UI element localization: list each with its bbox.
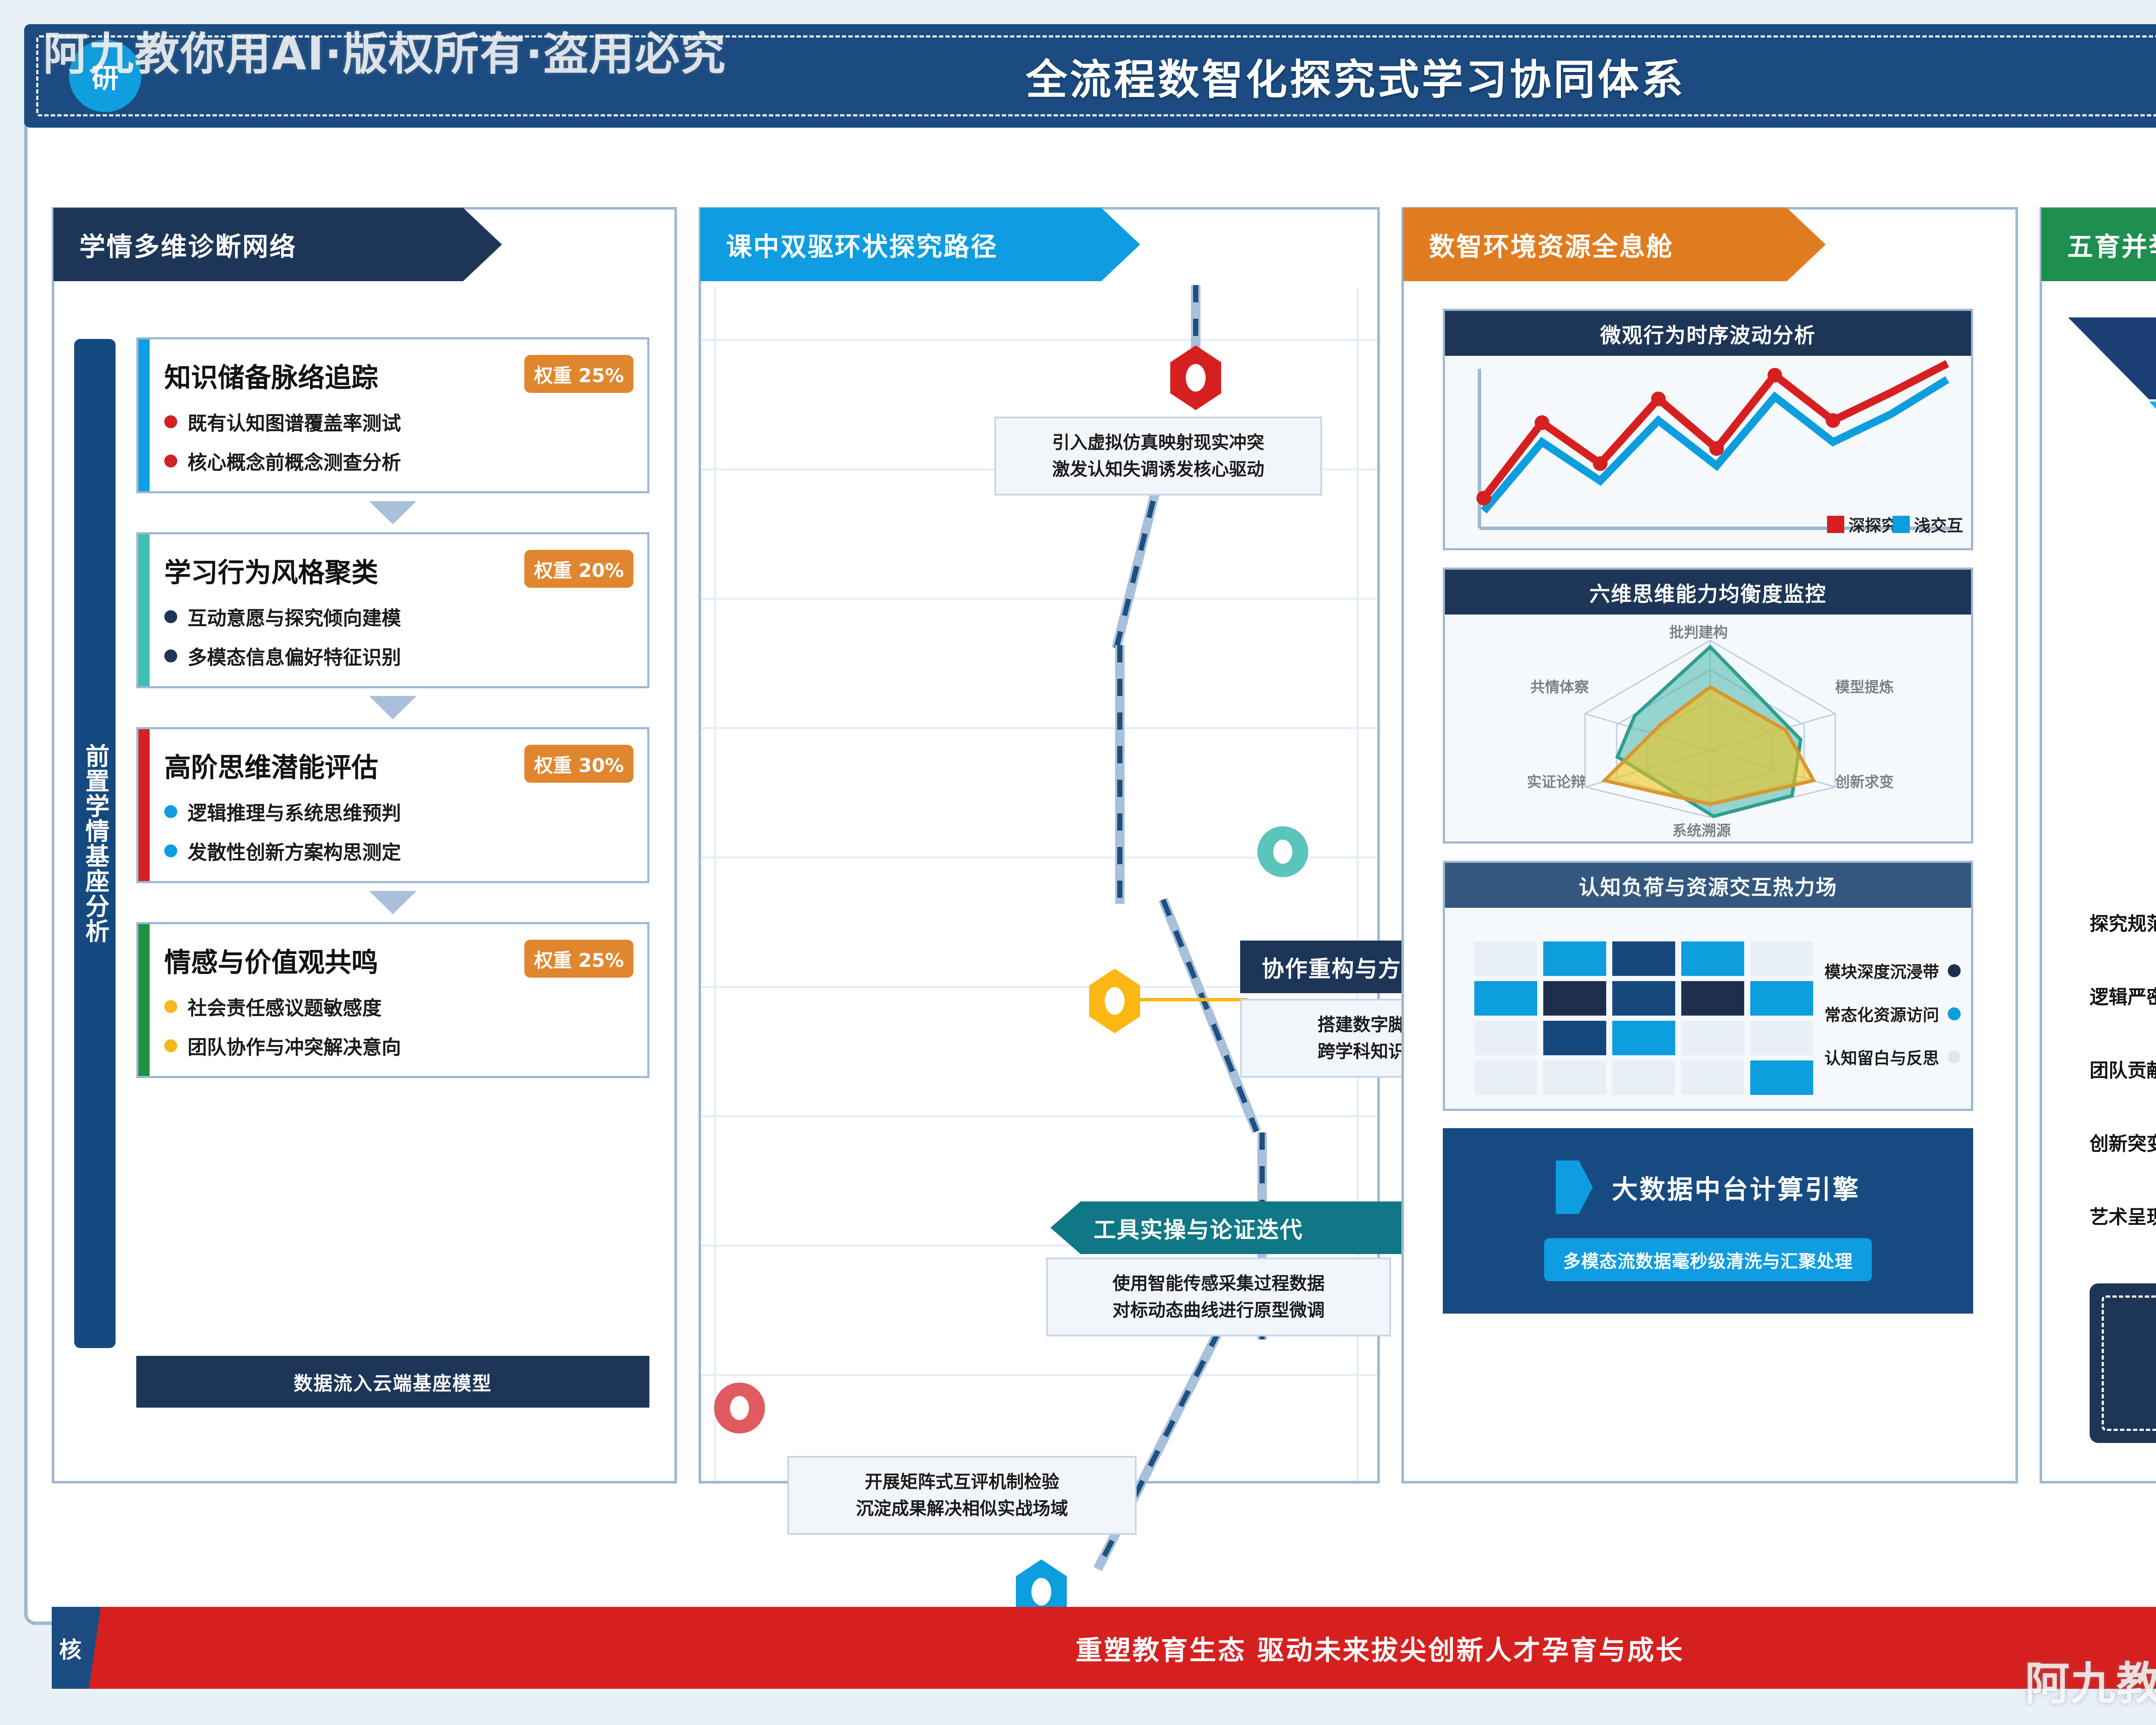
card-bullet: 多模态信息偏好特征识别 [164, 642, 630, 670]
meter-row: 探究规范度 优秀 [2090, 908, 2156, 936]
diagnosis-card[interactable]: 学习行为风格聚类 权重 20% 互动意愿与探究倾向建模 多模态信息偏好特征识别 [136, 532, 649, 688]
bullet-dot-icon [164, 415, 177, 428]
card-accent-bar [138, 534, 150, 686]
weight-badge: 权重 25% [524, 940, 633, 978]
column1-side-rail: 前置学情基座分析 [74, 339, 116, 1348]
card-bullet: 既有认知图谱覆盖率测试 [164, 408, 630, 436]
meter-label: 探究规范度 [2090, 908, 2156, 936]
heatmap-cell [1474, 981, 1537, 1016]
card-accent-bar [138, 339, 150, 491]
engine-title: 大数据中台计算引擎 [1612, 1169, 1860, 1206]
diagnosis-card[interactable]: 情感与价值观共鸣 权重 25% 社会责任感议题敏感度 团队协作与冲突解决意向 [136, 922, 649, 1078]
engine-arrow-icon [1556, 1160, 1593, 1214]
meter-row: 逻辑严密度 良好 [2090, 982, 2156, 1009]
column-data-environment: 数智环境资源全息舱 微观行为时序波动分析 深探究 浅交互 六维思维能力均衡度监控 [1401, 207, 2018, 1483]
radar-chart-title: 六维思维能力均衡度监控 [1445, 570, 1971, 615]
path-segment [1191, 285, 1200, 350]
bullet-text: 社会责任感议题敏感度 [188, 992, 382, 1020]
radar-chart-panel: 六维思维能力均衡度监控 批判建构 模型提炼 创新求变 系统溯源 实证论辩 共情体… [1443, 568, 1973, 844]
bullet-dot-icon [164, 805, 177, 818]
heatmap-title: 认知负荷与资源交互热力场 [1445, 863, 1971, 908]
radar-axis-label: 创新求变 [1835, 770, 1894, 791]
heatmap-legend-label: 常态化资源访问 [1824, 1002, 1939, 1026]
diagnosis-card[interactable]: 知识储备脉络追踪 权重 25% 既有认知图谱覆盖率测试 核心概念前概念测查分析 [136, 337, 649, 493]
heatmap-cell [1474, 1060, 1537, 1095]
heatmap-cell [1474, 941, 1537, 976]
marker-red-ring-icon[interactable] [714, 1383, 765, 1433]
heatmap-cell [1681, 941, 1744, 976]
weight-badge: 权重 30% [524, 745, 633, 783]
card-bullet: 社会责任感议题敏感度 [164, 992, 630, 1020]
radar-axis-label: 模型提炼 [1835, 675, 1894, 696]
bullet-dot-icon [164, 1039, 177, 1052]
meter-label: 创新突变力 [2090, 1128, 2156, 1156]
diagnosis-card-stack: 知识储备脉络追踪 权重 25% 既有认知图谱覆盖率测试 核心概念前概念测查分析 … [136, 337, 649, 1078]
heatmap-cell [1612, 981, 1675, 1016]
heatmap-legend-label: 认知留白与反思 [1824, 1045, 1939, 1069]
weight-badge: 权重 20% [524, 550, 633, 588]
heatmap-cell [1543, 981, 1606, 1016]
meter-label: 团队贡献率 [2090, 1055, 2156, 1082]
legend-dot-icon [1948, 1007, 1961, 1020]
weight-badge: 权重 25% [524, 355, 633, 393]
card-title: 学习行为风格聚类 [164, 551, 378, 590]
line-chart-legend-shallow: 浅交互 [1893, 512, 1963, 536]
stage-chevron-tools: 工具实操与论证迭代 [1050, 1201, 1426, 1254]
bullet-dot-icon [164, 455, 177, 467]
heatmap-cell [1612, 1021, 1675, 1055]
page-footer: 核 重塑教育生态 驱动未来拔尖创新人才孕育与成长 心 [52, 1607, 2156, 1689]
radar-axis-label: 共情体察 [1530, 675, 1589, 696]
footer-left-char: 核 [52, 1607, 89, 1689]
heatmap-panel: 认知负荷与资源交互热力场 模块深度沉浸带 [1443, 861, 1973, 1111]
card-bullet: 团队协作与冲突解决意向 [164, 1032, 630, 1060]
bullet-dot-icon [164, 649, 177, 662]
heatmap-legend-item: 模块深度沉浸带 [1824, 959, 1961, 982]
funnel-segment-1[interactable]: 基础知识与技能确立 [2068, 317, 2156, 399]
heatmap-cell [1681, 1021, 1744, 1055]
bullet-text: 互动意愿与探究倾向建模 [188, 602, 401, 630]
footer-banner: 重塑教育生态 驱动未来拔尖创新人才孕育与成长 [89, 1607, 2156, 1689]
card-bullet: 核心概念前概念测查分析 [164, 447, 630, 475]
heatmap-cell [1750, 1060, 1813, 1095]
bullet-text: 发散性创新方案构思测定 [188, 837, 401, 865]
bullet-dot-icon [164, 610, 177, 623]
big-data-engine-panel[interactable]: 大数据中台计算引擎 多模态流数据毫秒级清洗与汇聚处理 [1443, 1128, 1973, 1314]
footer-text: 重塑教育生态 驱动未来拔尖创新人才孕育与成长 [1075, 1628, 1684, 1667]
legend-label: 深探究 [1849, 512, 1898, 536]
bullet-text: 团队协作与冲突解决意向 [188, 1032, 401, 1060]
meter-label: 艺术呈现力 [2090, 1201, 2156, 1229]
card-title: 情感与价值观共鸣 [164, 941, 378, 979]
column1-heading: 学情多维诊断网络 [53, 208, 502, 281]
card-title: 知识储备脉络追踪 [164, 356, 378, 395]
path-segment [1115, 645, 1125, 904]
meter-label: 逻辑严密度 [2090, 982, 2156, 1009]
heatmap-cell [1543, 1060, 1606, 1095]
diagnosis-card[interactable]: 高阶思维潜能评估 权重 30% 逻辑推理与系统思维预判 发散性创新方案构思测定 [136, 727, 649, 883]
card-bullet: 互动意愿与探究倾向建模 [164, 602, 630, 630]
bullet-text: 核心概念前概念测查分析 [188, 447, 401, 475]
heatmap-cell [1750, 1021, 1813, 1055]
legend-dot-icon [1948, 1051, 1961, 1063]
legend-dot-icon [1948, 964, 1961, 977]
radar-axis-label: 实证论辩 [1527, 770, 1586, 791]
card-accent-bar [138, 729, 150, 881]
path-note: 使用智能传感采集过程数据 对标动态曲线进行原型微调 [1046, 1258, 1391, 1336]
meter-row: 创新突变力 合格 [2090, 1128, 2156, 1156]
heatmap-cell [1681, 981, 1744, 1016]
radar-axis-label: 批判建构 [1669, 621, 1728, 642]
flow-arrow-down-icon [369, 501, 417, 524]
radar-axis-label: 系统溯源 [1672, 819, 1731, 840]
path-note: 开展矩阵式互评机制检验 沉淀成果解决相似实战场域 [787, 1456, 1137, 1535]
heatmap-cell [1612, 941, 1675, 976]
heatmap-legend-item: 常态化资源访问 [1824, 1002, 1961, 1026]
card-bullet: 逻辑推理与系统思维预判 [164, 797, 630, 825]
bullet-dot-icon [164, 844, 177, 857]
radar-chart-canvas [1445, 615, 1975, 847]
line-chart-title: 微观行为时序波动分析 [1445, 311, 1971, 356]
column-inquiry-path: 课中双驱环状探究路径 引入虚拟仿真映射现实冲突 激发认知失调诱发核心驱动 协作重… [699, 207, 1380, 1483]
flow-arrow-down-icon [369, 891, 417, 914]
column3-heading: 数智环境资源全息舱 [1403, 208, 1826, 281]
marker-connector [1140, 998, 1248, 1001]
heatmap-legend-item: 认知留白与反思 [1824, 1045, 1961, 1069]
heatmap-cell [1474, 1021, 1537, 1055]
heatmap-cell [1543, 1021, 1606, 1055]
line-chart-panel: 微观行为时序波动分析 深探究 浅交互 [1443, 309, 1973, 550]
heatmap-cell [1681, 1060, 1744, 1095]
meter-row: 艺术呈现力 优秀 [2090, 1201, 2156, 1229]
column2-heading: 课中双驱环状探究路径 [700, 208, 1140, 281]
engine-subtitle: 多模态流数据毫秒级清洗与汇聚处理 [1544, 1238, 1872, 1281]
heatmap-legend-label: 模块深度沉浸带 [1824, 959, 1939, 982]
bullet-text: 逻辑推理与系统思维预判 [188, 797, 401, 825]
card-bullet: 发散性创新方案构思测定 [164, 837, 630, 865]
bullet-dot-icon [164, 1000, 177, 1013]
column1-rail-label: 前置学情基座分析 [81, 743, 109, 944]
engine-title-row: 大数据中台计算引擎 [1556, 1160, 1860, 1214]
line-chart-legend-deep: 深探究 [1827, 512, 1898, 536]
marker-teal-ring-icon[interactable] [1257, 826, 1308, 877]
column-assessment: 五育并举增值性评估 基础知识与技能确立 跨界常识与原理融通 现实窘境剖析化解 顶… [2040, 207, 2156, 1483]
legend-swatch-icon [1827, 516, 1844, 533]
heatmap-cell [1750, 981, 1813, 1016]
column1-footer-banner: 数据流入云端基座模型 [136, 1356, 649, 1408]
column-diagnosis: 学情多维诊断网络 前置学情基座分析 知识储备脉络追踪 权重 25% 既有认知图谱… [52, 207, 677, 1483]
legend-swatch-icon [1893, 516, 1910, 533]
heatmap-cell [1543, 941, 1606, 976]
column4-heading: 五育并举增值性评估 [2041, 208, 2156, 281]
heatmap-grid [1474, 941, 1811, 1097]
card-title: 高阶思维潜能评估 [164, 746, 378, 784]
heatmap-cell [1612, 1060, 1675, 1095]
profile-card[interactable]: 个性化成长数字画像 基于证据的素养增值轨迹输出 [2090, 1283, 2156, 1443]
funnel-segment-2[interactable]: 跨界常识与原理融通 [2149, 401, 2156, 481]
profile-card-inner: 个性化成长数字画像 基于证据的素养增值轨迹输出 [2102, 1295, 2156, 1431]
flow-arrow-down-icon [369, 696, 417, 719]
page-header: 研 全流程数智化探究式学习协同体系 多维素养重构 [24, 24, 2156, 128]
meter-row: 团队贡献率 极佳 [2090, 1055, 2156, 1082]
bullet-text: 多模态信息偏好特征识别 [188, 642, 401, 670]
card-accent-bar [138, 924, 150, 1076]
legend-label: 浅交互 [1914, 512, 1963, 536]
path-note: 引入虚拟仿真映射现实冲突 激发认知失调诱发核心驱动 [994, 417, 1322, 496]
bullet-text: 既有认知图谱覆盖率测试 [188, 408, 401, 436]
page-title: 全流程数智化探究式学习协同体系 [24, 24, 2156, 128]
heatmap-cell [1750, 941, 1813, 976]
